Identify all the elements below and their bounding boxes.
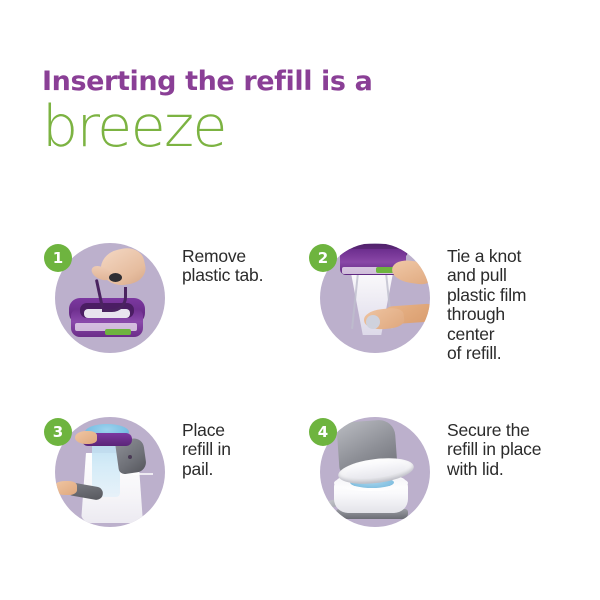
step-item-2: 2 Tie a knot and pull plastic film throu… <box>309 231 574 391</box>
step-item-4: 4 Secure the refill in place with lid. <box>309 405 574 565</box>
step-item-3: 3 Place refill in pail. <box>44 405 309 565</box>
step-3-illustration: 3 <box>55 417 165 527</box>
steps-grid: 1 Remove plastic tab. <box>0 231 600 551</box>
step-2-text: Tie a knot and pull plastic film through… <box>447 247 573 363</box>
step-2-illustration: 2 <box>320 243 430 353</box>
step-1-illustration: 1 <box>55 243 165 353</box>
infographic-page: Inserting the refill is a breeze <box>0 0 600 600</box>
step-number-badge-1: 1 <box>44 244 72 272</box>
headline-line-1: Inserting the refill is a <box>42 66 562 97</box>
step-4-illustration: 4 <box>320 417 430 527</box>
step-item-1: 1 Remove plastic tab. <box>44 231 309 391</box>
step-number-badge-2: 2 <box>309 244 337 272</box>
page-title: Inserting the refill is a breeze <box>42 66 562 156</box>
step-3-text: Place refill in pail. <box>182 421 308 479</box>
step-number-badge-3: 3 <box>44 418 72 446</box>
step-number-badge-4: 4 <box>309 418 337 446</box>
step-1-text: Remove plastic tab. <box>182 247 308 286</box>
headline-line-2: breeze <box>42 98 562 156</box>
step-4-text: Secure the refill in place with lid. <box>447 421 573 479</box>
